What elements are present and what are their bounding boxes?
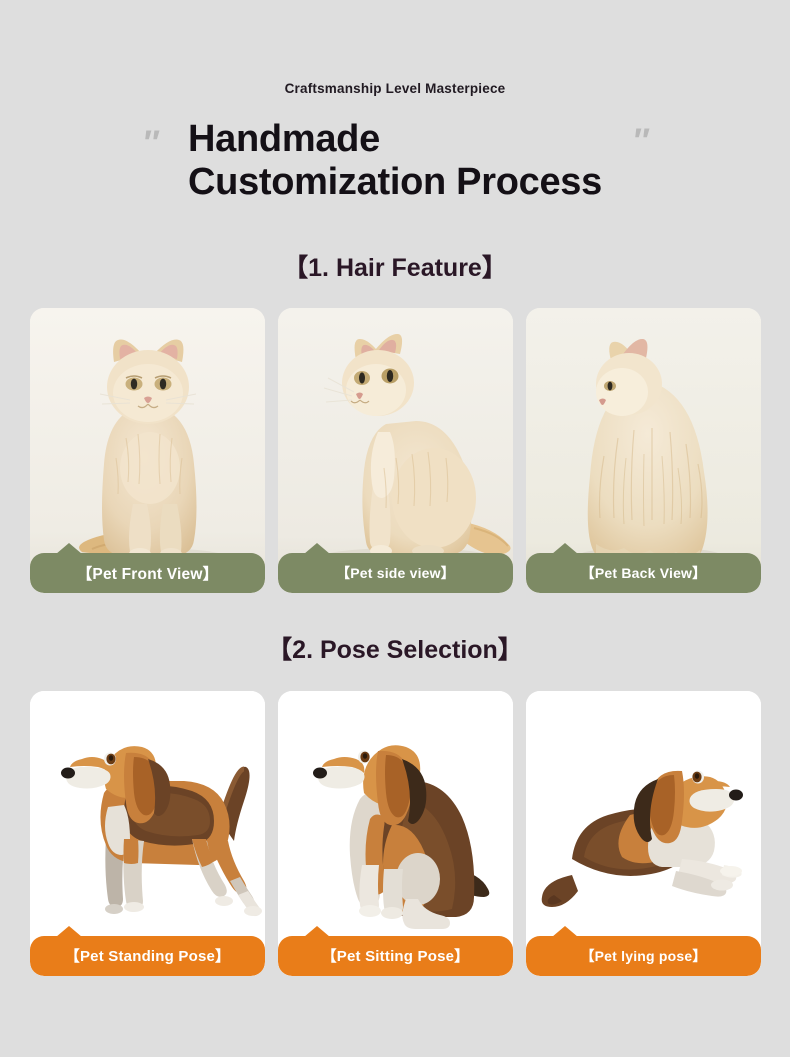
label-pet-front-view: 【Pet Front View】 xyxy=(30,553,265,593)
label-notch-icon xyxy=(552,543,578,554)
label-notch-icon xyxy=(304,543,330,554)
card-pet-lying-pose[interactable]: 【Pet lying pose】 xyxy=(526,691,761,976)
card-pet-front-view[interactable]: 【Pet Front View】 xyxy=(30,308,265,593)
card-pet-standing-pose[interactable]: 【Pet Standing Pose】 xyxy=(30,691,265,976)
page-root: Craftsmanship Level Masterpiece ″ ″ Hand… xyxy=(0,0,790,1057)
hair-feature-card-grid: 【Pet Front View】 xyxy=(0,308,790,593)
label-pet-side-view: 【Pet side view】 xyxy=(278,553,513,593)
page-title: ″ ″ Handmade Customization Process xyxy=(0,118,790,204)
label-notch-icon xyxy=(552,926,578,937)
label-notch-icon xyxy=(56,543,82,554)
quote-open-icon: ″ xyxy=(142,124,156,163)
eyebrow-text: Craftsmanship Level Masterpiece xyxy=(0,0,790,96)
label-notch-icon xyxy=(304,926,330,937)
label-pet-sitting-pose: 【Pet Sitting Pose】 xyxy=(278,936,513,976)
card-pet-side-view[interactable]: 【Pet side view】 xyxy=(278,308,513,593)
label-pet-back-view: 【Pet Back View】 xyxy=(526,553,761,593)
section-heading-pose-selection: 【2. Pose Selection】 xyxy=(0,630,790,666)
label-notch-icon xyxy=(56,926,82,937)
quote-close-icon: ″ xyxy=(632,122,646,161)
section-heading-hair-feature: 【1. Hair Feature】 xyxy=(0,248,790,284)
label-pet-lying-pose: 【Pet lying pose】 xyxy=(526,936,761,976)
label-pet-standing-pose: 【Pet Standing Pose】 xyxy=(30,936,265,976)
title-line-1: Handmade xyxy=(188,118,602,161)
pose-selection-card-grid: 【Pet Standing Pose】 xyxy=(0,691,790,976)
card-pet-back-view[interactable]: 【Pet Back View】 xyxy=(526,308,761,593)
title-line-2: Customization Process xyxy=(188,161,602,204)
card-pet-sitting-pose[interactable]: 【Pet Sitting Pose】 xyxy=(278,691,513,976)
